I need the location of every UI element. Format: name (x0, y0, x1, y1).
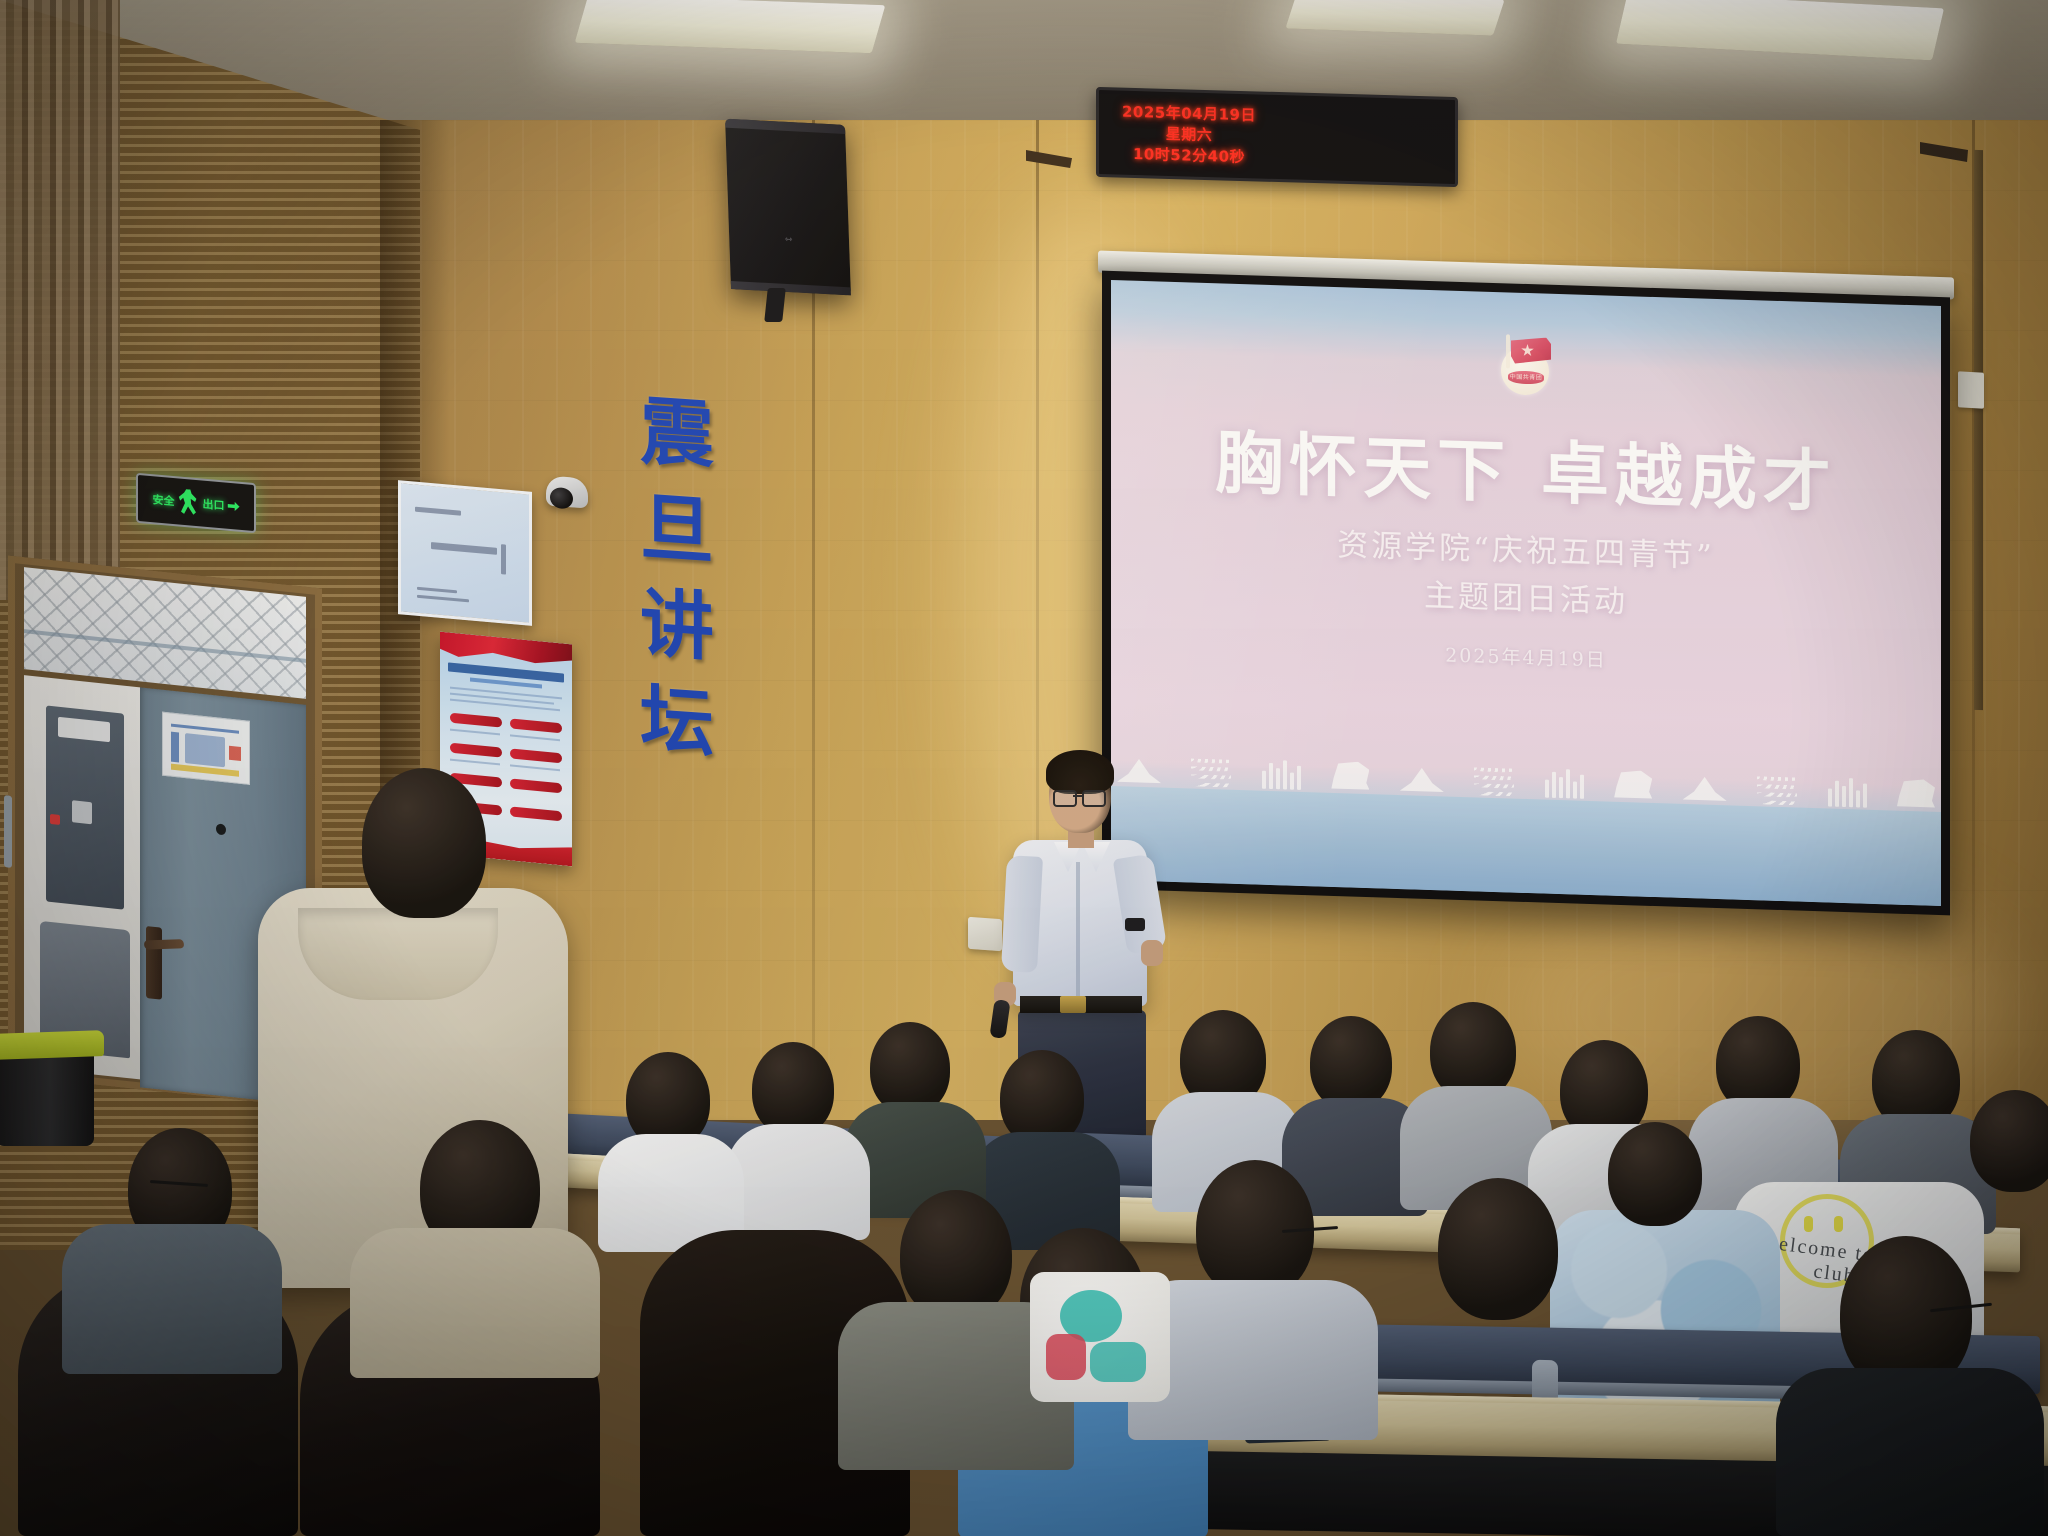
mountain-motif-icon (1117, 754, 1161, 785)
led-clock-time: 10时52分40秒 (1133, 144, 1245, 167)
bars-motif-icon (1545, 768, 1584, 799)
wave-motif-icon (1191, 758, 1231, 787)
calligraphy-char-2: 旦 (640, 493, 714, 566)
exit-sign-label-right: 出口 (203, 496, 225, 514)
mountain-motif-icon (1400, 763, 1444, 794)
audience-head (1608, 1122, 1702, 1226)
audience-head (1438, 1178, 1558, 1320)
emergency-exit-sign: 安全 出口 (136, 473, 256, 533)
led-wall-clock: 2025年04月19日 星期六 10时52分40秒 (1096, 87, 1458, 187)
presenter-hair (1046, 750, 1114, 794)
rock-motif-icon (1331, 761, 1369, 792)
rock-motif-icon (1897, 779, 1935, 810)
audience-head (900, 1190, 1012, 1320)
presenter-glasses-bridge (1073, 795, 1082, 797)
graphic-tee (1030, 1272, 1170, 1402)
presenter-wristwatch (1125, 918, 1145, 931)
wall-notice-frame (398, 480, 532, 626)
evacuation-plan-sign (162, 712, 250, 785)
corridor-view (24, 675, 140, 1079)
running-man-icon (178, 488, 200, 516)
jacket-hood (298, 908, 498, 1000)
bars-motif-icon (1828, 776, 1867, 807)
poster-title-bar (448, 662, 564, 682)
trash-bin-lid (0, 1030, 104, 1060)
calligraphy-char-3: 讲 (640, 590, 714, 663)
rock-motif-icon (1614, 770, 1652, 801)
door-handle[interactable] (146, 926, 162, 1000)
door-push-bar[interactable] (4, 795, 12, 868)
slide-date: 2025年4月19日 (1111, 630, 1941, 683)
audience-head (752, 1042, 834, 1136)
foreground-torso (1776, 1368, 2044, 1536)
led-clock-lines: 2025年04月19日 星期六 10时52分40秒 (1109, 94, 1269, 174)
audience-torso (350, 1228, 600, 1378)
projector-screen: 中国共青团 胸怀天下 卓越成才 资源学院“庆祝五四青节” 主题团日活动 2025… (1102, 271, 1950, 916)
lecture-hall-photo: ⇿ 2025年04月19日 星期六 10时52分40秒 安全 出口 (0, 0, 2048, 1536)
slide-title: 胸怀天下 卓越成才 (1111, 404, 1941, 529)
projected-slide: 中国共青团 胸怀天下 卓越成才 资源学院“庆祝五四青节” 主题团日活动 2025… (1111, 280, 1941, 906)
audience-torso (62, 1224, 282, 1374)
door-lever[interactable] (144, 939, 185, 949)
corridor-vending-machine (46, 705, 124, 909)
wall-calligraphy: 震 旦 讲 坛 (612, 395, 742, 760)
presenter-glasses-left (1053, 790, 1077, 807)
wave-motif-icon (1757, 776, 1797, 805)
mountain-motif-icon (1683, 772, 1727, 803)
calligraphy-char-1: 震 (640, 397, 714, 470)
audience-head (1970, 1090, 2048, 1192)
presenter-right-hand (1141, 940, 1163, 966)
led-clock-weekday: 星期六 (1166, 124, 1213, 146)
door-peephole (216, 823, 226, 835)
audience-head (870, 1022, 950, 1114)
presenter-left-arm (1001, 855, 1043, 973)
wall-conduit (1974, 150, 1983, 710)
wall-power-outlet[interactable] (1958, 371, 1984, 408)
emblem-text: 中国共青团 (1508, 370, 1544, 384)
wall-loudspeaker: ⇿ (725, 119, 851, 296)
calligraphy-char-4: 坛 (640, 686, 714, 759)
presenter-shirt-placket (1076, 862, 1080, 1004)
wave-motif-icon (1474, 767, 1514, 796)
communist-youth-league-emblem-icon: 中国共青团 (1495, 334, 1557, 398)
window-curtain (0, 0, 120, 600)
wall-light-switch[interactable] (968, 917, 1002, 951)
exit-sign-label-left: 安全 (153, 491, 175, 509)
exit-arrow-icon (228, 500, 240, 513)
camera-lens-icon (550, 487, 573, 510)
bars-motif-icon (1262, 759, 1301, 790)
presenter-belt-buckle (1060, 996, 1086, 1013)
standing-student-head (362, 768, 486, 918)
speaker-logo: ⇿ (785, 234, 794, 245)
audience-torso (726, 1124, 870, 1240)
audience-head (1310, 1016, 1392, 1110)
speaker-mount-bracket (764, 288, 786, 322)
presenter-glasses-right (1082, 790, 1106, 807)
led-clock-date: 2025年04月19日 (1122, 101, 1256, 125)
